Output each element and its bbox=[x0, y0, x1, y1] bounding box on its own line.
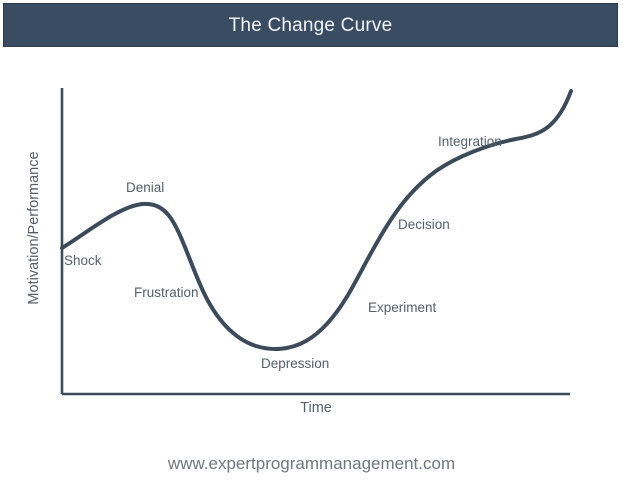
stage-label-denial: Denial bbox=[126, 181, 164, 195]
title-bar: The Change Curve bbox=[3, 3, 618, 47]
x-axis-title: Time bbox=[62, 400, 570, 416]
page-title: The Change Curve bbox=[229, 16, 393, 35]
chart-area: Motivation/Performance Time Shock Denial… bbox=[0, 47, 623, 442]
stage-label-frustration: Frustration bbox=[134, 286, 199, 300]
stage-label-depression: Depression bbox=[261, 357, 329, 371]
stage-label-experiment: Experiment bbox=[368, 301, 436, 315]
stage-label-integration: Integration bbox=[438, 135, 502, 149]
footer-url: www.expertprogrammanagement.com bbox=[0, 455, 623, 472]
stage-label-decision: Decision bbox=[398, 218, 450, 232]
y-axis-title: Motivation/Performance bbox=[26, 78, 42, 378]
change-curve-line bbox=[62, 91, 571, 349]
change-curve-plot bbox=[0, 47, 623, 442]
stage-label-shock: Shock bbox=[64, 254, 102, 268]
